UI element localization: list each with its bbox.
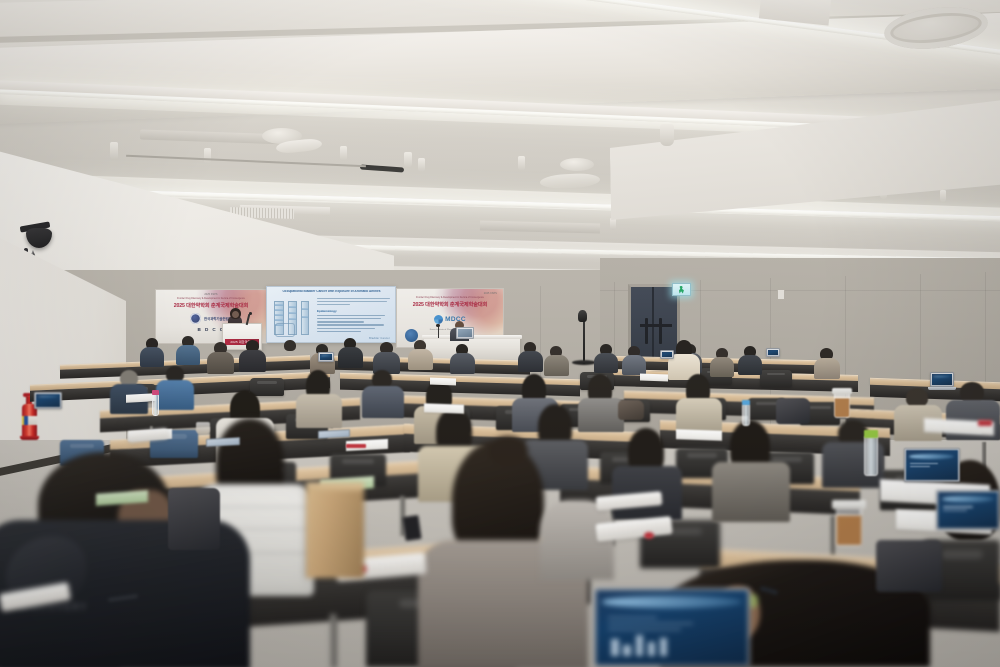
slide-text-column: Epidemiology: [317, 298, 393, 334]
bottle-cap: [742, 400, 750, 405]
laptop[interactable]: [594, 588, 750, 667]
track-spotlight-icon: [340, 146, 347, 161]
desk-microphone: [438, 326, 439, 338]
track-spotlight-icon: [518, 156, 525, 171]
laptop-screen: [938, 492, 998, 528]
mdcc-logo: MDCC: [397, 315, 503, 324]
running-man-icon: [679, 286, 685, 294]
door-handle[interactable]: [659, 318, 662, 344]
banner-right-subtitle: Frontier Drug Discovery & Development in…: [397, 297, 503, 299]
fire-extinguisher-base: [20, 436, 39, 440]
cup-lid: [832, 500, 866, 509]
laptop-screen: [932, 374, 952, 385]
molecule-diagram-icon: [275, 323, 295, 337]
lecture-hall-photo: 2025 KSPS Frontier Drug Discovery & Deve…: [0, 0, 1000, 667]
bottle-cap: [152, 390, 159, 395]
backpack: [168, 488, 220, 550]
extinguisher-label-yellow: [22, 416, 24, 425]
pendant-spotlight-icon: [660, 124, 674, 146]
laptop-screen: [596, 590, 748, 665]
banner-left-top-line: 2025 KSPS: [156, 293, 266, 296]
light-switch-plate[interactable]: [777, 289, 785, 300]
fire-extinguisher-icon: [22, 404, 37, 438]
handbag: [618, 400, 644, 420]
laptop-screen: [906, 450, 958, 480]
laptop-screen: [458, 329, 472, 337]
door-push-bar[interactable]: [640, 324, 656, 327]
track-spotlight-icon: [940, 190, 946, 202]
laptop-screen: [768, 350, 778, 355]
backpack: [876, 540, 942, 592]
laptop[interactable]: [34, 392, 62, 409]
banner-right-top-line: 2025 KSPS: [397, 292, 497, 295]
slide-title: Occupational Bladder Cancer with Exposur…: [271, 290, 392, 294]
microphone-head-icon: [436, 324, 440, 327]
mdcc-mark-icon: [434, 315, 443, 324]
banner-left-subtitle: Frontier Drug Discovery & Development in…: [156, 298, 266, 300]
floor-microphone-stand: [583, 318, 585, 364]
exit-sign: [672, 283, 691, 296]
bottle-cap: [864, 430, 878, 438]
water-bottle[interactable]: [152, 394, 159, 416]
slide-footer: Bladder Cancer: [369, 337, 390, 340]
microphone-head-icon: [249, 312, 252, 315]
ceiling-speaker-icon: [560, 158, 594, 171]
door-push-bar[interactable]: [656, 324, 672, 327]
microphone-head-icon: [578, 310, 587, 322]
laptop[interactable]: [660, 350, 674, 359]
laptop[interactable]: [766, 348, 780, 357]
laptop[interactable]: [936, 490, 1000, 530]
iced-coffee-cup[interactable]: [834, 392, 850, 418]
chair[interactable]: [760, 370, 792, 387]
laptop[interactable]: [930, 372, 954, 387]
laptop-screen: [320, 354, 332, 360]
projection-screen: Occupational Bladder Cancer with Exposur…: [266, 286, 396, 343]
laptop[interactable]: [904, 448, 960, 482]
paper-bag: [306, 482, 364, 578]
chair[interactable]: [250, 378, 284, 396]
water-bottle[interactable]: [864, 436, 878, 476]
printed-program: [676, 429, 722, 441]
water-bottle[interactable]: [742, 404, 750, 426]
paper-cup[interactable]: [196, 422, 210, 434]
cup-lid: [832, 388, 852, 394]
laptop-screen: [662, 352, 672, 357]
printed-program: [424, 403, 464, 413]
speaker-head: [232, 311, 239, 318]
academy-seal-icon: [190, 313, 201, 324]
slide-section-heading: Epidemiology: [317, 309, 393, 313]
door-handle[interactable]: [645, 318, 648, 344]
handbag: [776, 398, 810, 424]
smartphone[interactable]: [402, 515, 421, 541]
laptop-base: [928, 387, 956, 390]
laptop[interactable]: [318, 352, 334, 362]
laptop-screen: [36, 394, 60, 407]
track-spotlight-icon: [110, 142, 118, 160]
banner-right-title: 2025 대한약학회 춘계국제학술대회: [397, 301, 503, 308]
iced-coffee-cup[interactable]: [836, 506, 862, 546]
track-spotlight-icon: [404, 152, 412, 168]
printed-program: [430, 378, 456, 386]
banner-left-title: 2025 대한약학회 춘계국제학술대회: [156, 302, 266, 309]
laptop[interactable]: [456, 327, 474, 339]
track-spotlight-icon: [418, 158, 425, 172]
microphone-stand-base: [572, 360, 596, 365]
tablet[interactable]: [318, 429, 350, 439]
printed-program: [640, 374, 668, 382]
ceiling: [0, 0, 1000, 300]
track-spotlight-icon: [204, 148, 211, 164]
